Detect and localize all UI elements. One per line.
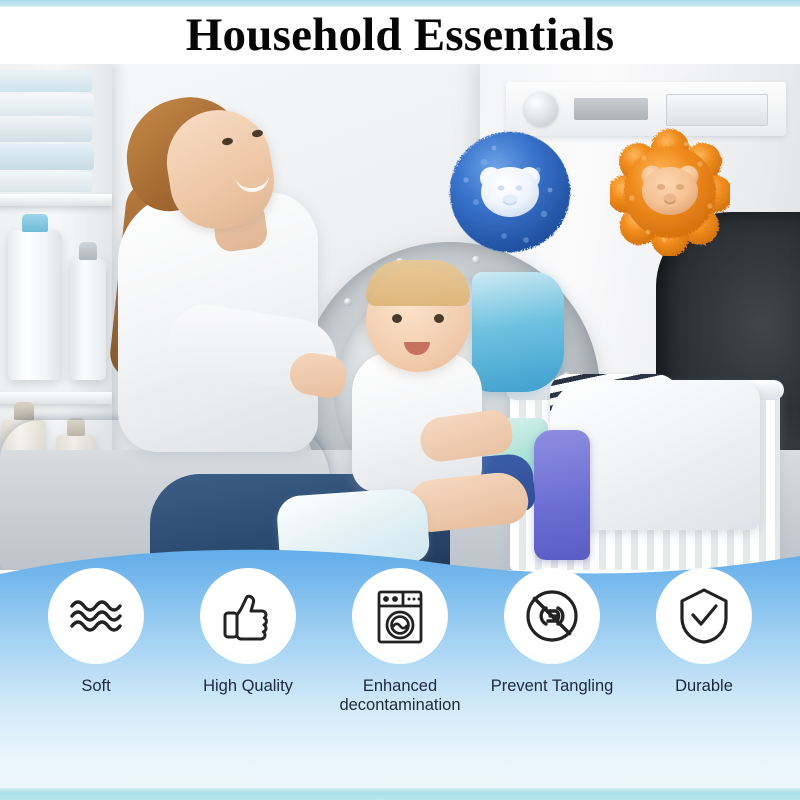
baby-hair: [366, 260, 470, 306]
feature-label: High Quality: [203, 677, 293, 696]
detergent-bottle: [8, 230, 62, 380]
feature-list: Soft High Quality: [0, 568, 800, 716]
folded-towel: [0, 118, 92, 142]
feature-panel: Soft High Quality: [0, 540, 800, 800]
no-tangle-icon: [522, 586, 582, 646]
feature-label: Soft: [81, 677, 110, 696]
bottom-edge-strip: [0, 788, 800, 800]
title-band: Household Essentials: [0, 0, 800, 64]
door-bolt: [344, 298, 352, 306]
feature-icon-badge: [504, 568, 600, 664]
top-edge-strip: [0, 0, 800, 7]
folded-towel: [0, 172, 92, 192]
baby-eye: [392, 314, 402, 323]
shelf-board: [0, 194, 112, 206]
folded-towel: [0, 144, 94, 170]
detergent-bottle: [70, 258, 106, 380]
feature-item-durable: Durable: [630, 568, 778, 716]
feature-item-soft: Soft: [22, 568, 170, 716]
feature-icon-badge: [656, 568, 752, 664]
bottle-cap: [79, 242, 97, 260]
feature-label: Prevent Tangling: [491, 677, 614, 696]
feature-icon-badge: [48, 568, 144, 664]
feature-item-prevent-tangling: Prevent Tangling: [478, 568, 626, 716]
feature-icon-badge: [200, 568, 296, 664]
baby-eye: [434, 314, 444, 323]
folded-towel: [0, 70, 92, 92]
washer-dial: [524, 92, 558, 126]
door-bolt: [472, 256, 480, 264]
washing-machine-icon: [372, 587, 428, 645]
page-title: Household Essentials: [186, 6, 614, 59]
washer-detergent-drawer: [666, 94, 768, 126]
feature-label: Enhanced decontamination: [339, 677, 460, 716]
orange-lion-lint-ball: [610, 128, 730, 256]
folded-towel: [0, 94, 94, 116]
feature-item-enhanced-decontamination: Enhanced decontamination: [326, 568, 474, 716]
hanging-blue-garment: [472, 272, 564, 392]
washer-display: [574, 98, 648, 120]
feature-icon-badge: [352, 568, 448, 664]
feature-label: Durable: [675, 677, 733, 696]
thumbs-up-icon: [219, 587, 277, 645]
bottle-cap: [22, 214, 48, 232]
shield-check-icon: [675, 586, 733, 646]
blue-bear-lint-ball: [446, 128, 574, 256]
product-marketing-image: Soft High Quality: [0, 0, 800, 800]
wave-icon: [66, 586, 126, 646]
feature-item-high-quality: High Quality: [174, 568, 322, 716]
